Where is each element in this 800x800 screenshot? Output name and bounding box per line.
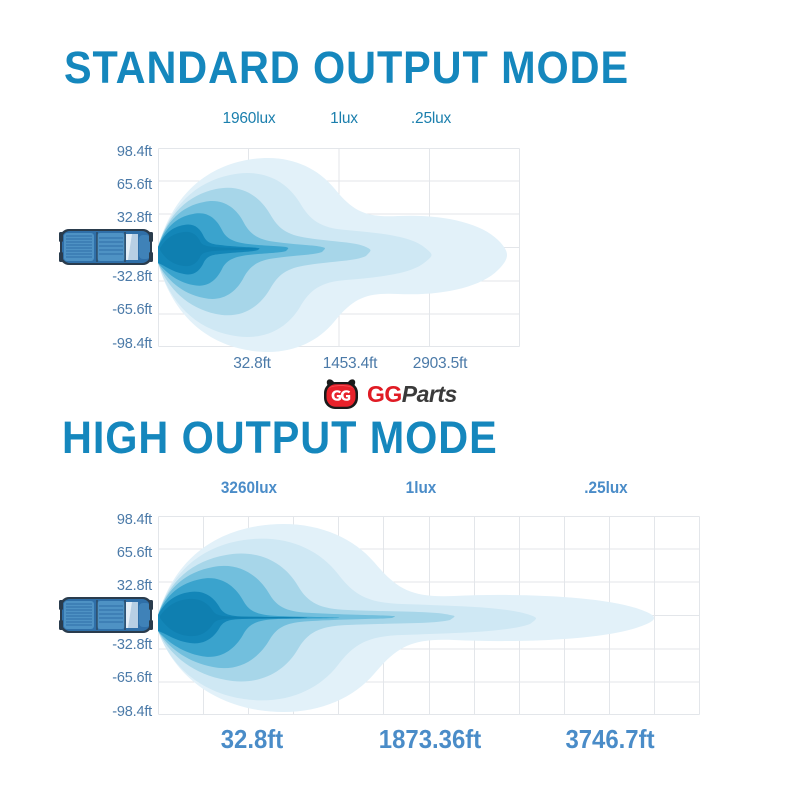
plot-area-high bbox=[158, 516, 700, 715]
ggparts-watermark: GG Parts bbox=[310, 371, 482, 417]
distance-label-32-8: 32.8ft bbox=[233, 355, 271, 373]
distance-label-32-8: 32.8ft bbox=[221, 724, 283, 755]
plot-area-standard bbox=[158, 148, 520, 347]
lux-label-3260: 3260lux bbox=[221, 478, 277, 498]
y-tick-65-6: 65.6ft bbox=[117, 545, 152, 561]
lux-label-1: 1lux bbox=[406, 478, 437, 498]
lux-label-row-standard: 1960lux 1lux .25lux bbox=[0, 110, 800, 134]
beam-pattern-standard bbox=[158, 148, 520, 347]
y-tick-neg-98-4: -98.4ft bbox=[112, 336, 152, 352]
y-tick-98-4: 98.4ft bbox=[117, 144, 152, 160]
lux-label-1960: 1960lux bbox=[223, 110, 276, 128]
distance-label-row-high: 32.8ft 1873.36ft 3746.7ft bbox=[0, 724, 800, 754]
section-title-high-output: HIGH OUTPUT MODE bbox=[62, 414, 498, 462]
distance-label-3746-7: 3746.7ft bbox=[565, 724, 654, 755]
lux-label-point25: .25lux bbox=[584, 478, 627, 498]
y-tick-65-6: 65.6ft bbox=[117, 177, 152, 193]
y-tick-neg-32-8: -32.8ft bbox=[112, 637, 152, 653]
y-tick-neg-65-6: -65.6ft bbox=[112, 670, 152, 686]
lux-label-point25: .25lux bbox=[411, 110, 451, 128]
y-tick-98-4: 98.4ft bbox=[117, 512, 152, 528]
beam-pattern-high bbox=[158, 516, 700, 715]
y-tick-neg-32-8: -32.8ft bbox=[112, 269, 152, 285]
truck-top-view-icon-standard bbox=[58, 223, 154, 271]
chart-high-output: 3260lux 1lux .25lux 98.4ft 65.6ft 32.8ft… bbox=[0, 478, 800, 753]
watermark-brand-parts: Parts bbox=[402, 381, 457, 408]
truck-top-view-icon-high bbox=[58, 591, 154, 639]
y-tick-neg-98-4: -98.4ft bbox=[112, 704, 152, 720]
lux-label-row-high: 3260lux 1lux .25lux bbox=[0, 478, 800, 502]
distance-label-1873-36: 1873.36ft bbox=[379, 724, 481, 755]
chart-standard-output: 1960lux 1lux .25lux 98.4ft 65.6ft 32.8ft… bbox=[0, 110, 800, 375]
watermark-brand-gg: GG bbox=[367, 381, 402, 408]
section-title-standard-output: STANDARD OUTPUT MODE bbox=[64, 44, 629, 92]
ggparts-mascot-icon bbox=[322, 377, 360, 411]
y-tick-neg-65-6: -65.6ft bbox=[112, 302, 152, 318]
lux-label-1: 1lux bbox=[330, 110, 358, 128]
light-beam-pattern-infographic: STANDARD OUTPUT MODE 1960lux 1lux .25lux… bbox=[0, 0, 800, 800]
